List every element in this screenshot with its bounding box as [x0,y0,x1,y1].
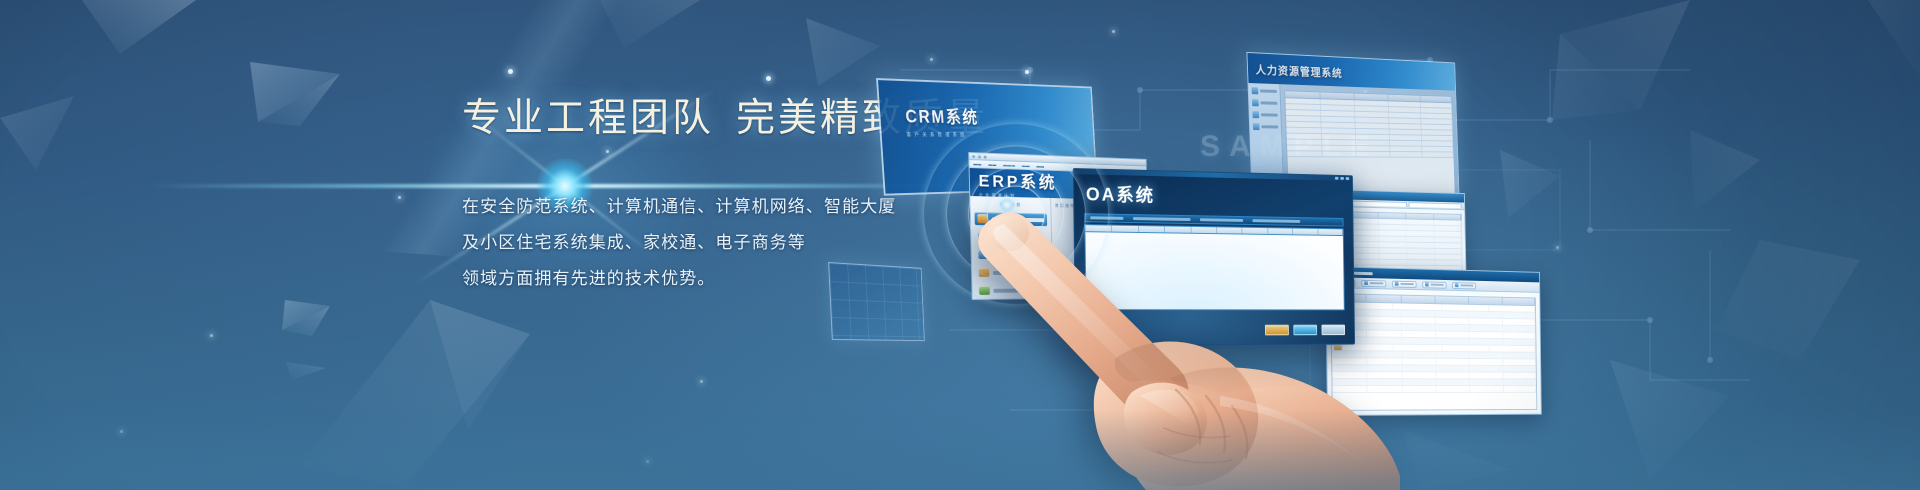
tab-item[interactable] [1408,202,1461,208]
refresh-icon [1395,282,1399,286]
table-row[interactable] [1350,260,1463,267]
r2-toolbar[interactable] [1326,277,1539,293]
table-row[interactable] [1350,277,1463,283]
r2-titlebar [1326,267,1539,282]
user-icon [1252,99,1259,106]
table-row[interactable] [1349,236,1462,243]
table-row[interactable] [1287,139,1453,146]
toolbar-button[interactable] [1422,281,1446,288]
table-row[interactable] [1332,386,1536,393]
folder-icon [1294,240,1301,246]
tab-item[interactable] [1351,201,1406,207]
cancel-button[interactable] [1322,325,1346,336]
table-row[interactable] [1332,351,1536,359]
toolbar-group[interactable] [1252,219,1300,223]
hero-banner: 专业工程团队完美精致质量 在安全防范系统、计算机通信、计算机网络、智能大厦 及小… [0,0,1920,490]
tree-node[interactable] [1293,220,1342,227]
folder-icon [1293,230,1300,236]
table-row[interactable] [1331,309,1535,319]
table-row[interactable] [1286,116,1452,125]
table-row[interactable] [1286,128,1452,136]
table-row[interactable] [1349,224,1462,232]
table-row[interactable] [1331,302,1535,313]
save-button[interactable] [1265,325,1289,336]
bottom-fade [0,410,1920,490]
r1-tree-panel[interactable] [1290,206,1348,317]
folder-icon [1333,303,1342,308]
report-icon [1252,111,1259,118]
table-row[interactable] [1349,230,1462,238]
table-row[interactable] [1285,98,1452,109]
table-row[interactable] [1332,337,1536,346]
toolbar-button[interactable] [1392,280,1417,287]
submit-button[interactable] [1293,325,1317,336]
toolbar-button[interactable] [1330,279,1355,287]
hr-titlebar: 人力资源管理系统 [1247,53,1455,91]
tree-node[interactable] [1294,250,1343,256]
minimize-icon[interactable] [1335,177,1339,180]
description-line-2: 及小区住宅系统集成、家校通、电子商务等 [462,225,1162,261]
watermark-line-2: SAMPLE [1200,176,1620,234]
toolbar-button[interactable] [1361,279,1386,287]
table-row[interactable] [1332,372,1536,379]
page-title: 专业工程团队完美精致质量 [462,96,1162,142]
description-line-1: 在安全防范系统、计算机通信、计算机网络、智能大厦 [462,189,1162,225]
hr-title: 人力资源管理系统 [1255,61,1455,85]
list-item[interactable] [1252,99,1277,107]
hr-sidebar[interactable] [1249,83,1287,247]
r1-table[interactable] [1346,207,1467,316]
tree-node[interactable] [1293,230,1342,237]
table-header [1349,211,1462,220]
maximize-icon[interactable] [1340,177,1344,180]
toolbar-group[interactable] [1200,218,1243,222]
hero-description: 在安全防范系统、计算机通信、计算机网络、智能大厦 及小区住宅系统集成、家校通、电… [462,189,1162,297]
tab-item[interactable] [1293,199,1350,205]
folder-icon [1293,220,1300,226]
sample-watermark: SAMPLE SAMPLE [1200,118,1620,234]
window-report-list[interactable] [1289,188,1468,318]
export-icon [1455,283,1459,287]
table-row[interactable] [1287,145,1453,152]
table-row[interactable] [1332,365,1536,373]
table-row[interactable] [1349,218,1462,226]
table-row[interactable] [1332,358,1536,366]
hr-body [1249,83,1461,247]
table-header [1331,294,1535,306]
table-header [1285,91,1452,103]
table-row[interactable] [1286,104,1453,114]
folder-icon [1294,250,1301,256]
description-line-3: 领域方面拥有先进的技术优势。 [462,261,1162,297]
r1-tabs[interactable] [1290,198,1464,210]
headline-part-1: 专业工程团队 [462,97,714,140]
table-row[interactable] [1286,122,1452,131]
tree-node[interactable] [1293,210,1342,217]
oa-footer [1086,324,1345,337]
gear-icon [1253,123,1260,130]
new-icon [1333,280,1337,284]
r1-titlebar [1290,189,1464,203]
save-icon [1364,281,1368,285]
table-row[interactable] [1286,110,1452,120]
r2-data-grid[interactable] [1330,293,1537,411]
hr-data-grid[interactable] [1284,90,1457,239]
hero-copy: 专业工程团队完美精致质量 在安全防范系统、计算机通信、计算机网络、智能大厦 及小… [462,96,1162,297]
folder-icon [1334,345,1343,350]
toolbar-button[interactable] [1452,282,1476,289]
table-row[interactable] [1332,323,1536,333]
table-row[interactable] [1349,242,1462,249]
table-row[interactable] [1332,379,1536,386]
close-icon[interactable] [1346,177,1350,180]
list-item[interactable] [1253,123,1278,130]
table-row[interactable] [1350,265,1463,272]
list-item[interactable] [1252,111,1277,119]
table-row[interactable] [1349,254,1462,261]
folder-icon [1293,210,1300,216]
table-row[interactable] [1332,316,1536,326]
table-row[interactable] [1287,134,1453,142]
tree-node[interactable] [1294,240,1343,247]
folder-icon [1251,87,1258,94]
table-row[interactable] [1332,330,1536,339]
watermark-line-1: SAMPLE [1200,118,1620,176]
print-icon [1425,282,1429,286]
table-row[interactable] [1349,248,1462,255]
window-hr[interactable]: 人力资源管理系统 [1246,52,1461,248]
table-row[interactable] [1332,344,1536,353]
headline-part-2: 完美精致质量 [736,97,988,140]
list-item[interactable] [1251,87,1276,95]
table-row[interactable] [1350,271,1463,277]
window-management-grid[interactable] [1325,266,1542,416]
table-row[interactable] [1287,151,1453,158]
